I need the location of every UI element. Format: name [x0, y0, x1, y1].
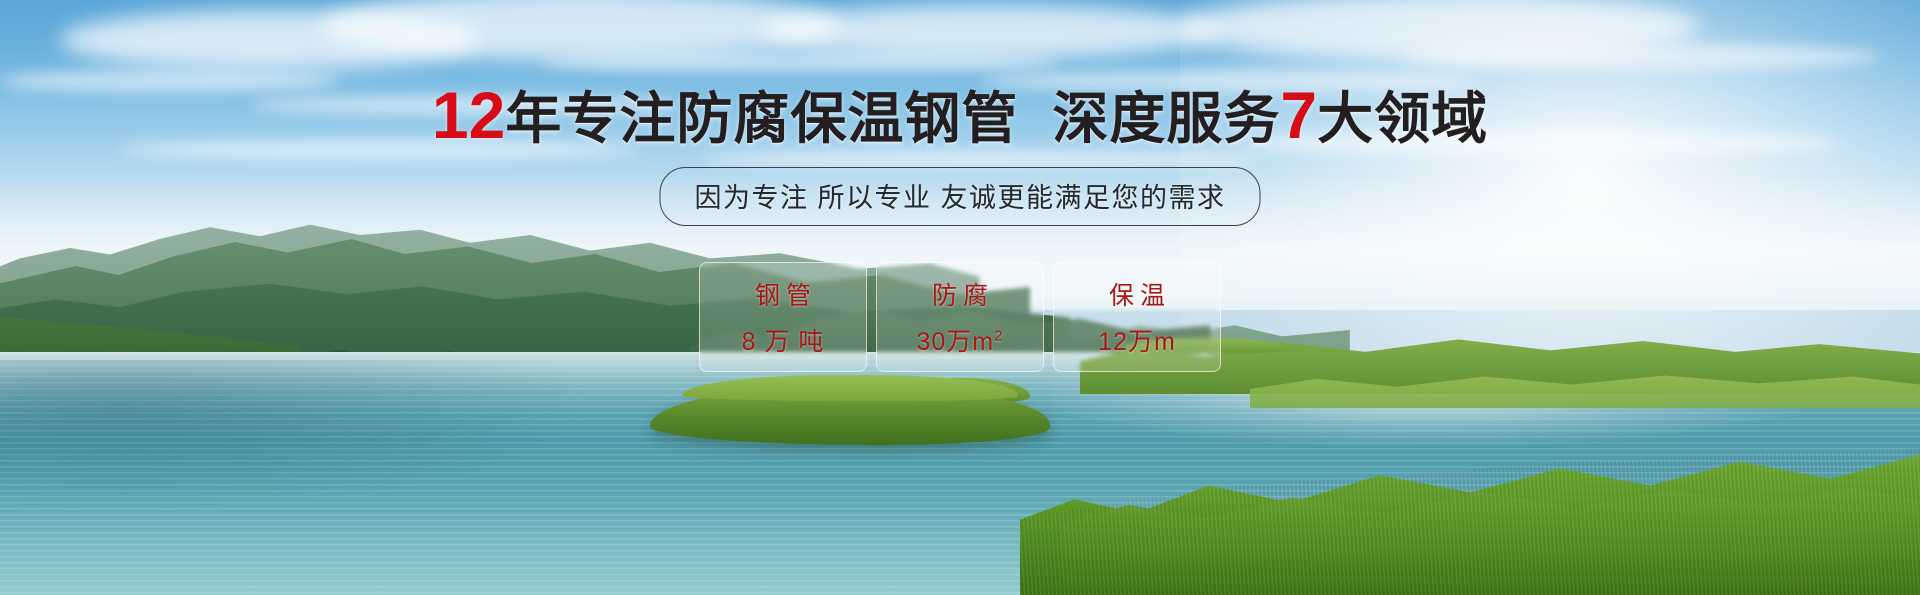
headline: 12年专注防腐保温钢管深度服务7大领域: [0, 82, 1920, 148]
stat-card-label: 保温: [1103, 276, 1171, 312]
cloud-shape: [760, 4, 1220, 59]
stat-card-label: 防腐: [926, 276, 994, 312]
stat-card-value-text: 12万m: [1098, 328, 1176, 356]
stat-card-anticorrosion[interactable]: 防腐 30万m2: [876, 262, 1044, 372]
water-shadow: [0, 360, 600, 510]
headline-number-years: 12: [432, 78, 505, 152]
cloud-wisp: [540, 52, 1060, 72]
stat-card-value-sup: 2: [994, 328, 1003, 345]
subtitle-pill: 因为专注 所以专业 友诚更能满足您的需求: [659, 167, 1260, 226]
headline-text-part3: 大领域: [1317, 87, 1488, 150]
headline-text-part2: 深度服务: [1052, 87, 1280, 150]
headline-number-fields: 7: [1280, 78, 1317, 152]
cloud-wisp: [700, 150, 1260, 168]
hero-banner: 12年专注防腐保温钢管深度服务7大领域 因为专注 所以专业 友诚更能满足您的需求…: [0, 0, 1920, 595]
stat-card-value: 8 万 吨: [742, 322, 825, 358]
stat-card-value-text: 8 万 吨: [742, 328, 825, 356]
stat-card-value: 12万m: [1098, 322, 1176, 358]
stat-card-group: 钢管 8 万 吨 防腐 30万m2 保温 12万m: [699, 262, 1221, 372]
stat-card-label: 钢管: [749, 276, 817, 312]
island-main: [650, 385, 1050, 445]
stat-card-insulation[interactable]: 保温 12万m: [1053, 262, 1221, 372]
stat-card-steel-pipe[interactable]: 钢管 8 万 吨: [699, 262, 867, 372]
headline-text-part1: 年专注防腐保温钢管: [505, 87, 1018, 150]
stat-card-value: 30万m2: [917, 322, 1004, 358]
stat-card-value-text: 30万m: [917, 328, 995, 356]
cloud-wisp: [1400, 44, 1880, 70]
